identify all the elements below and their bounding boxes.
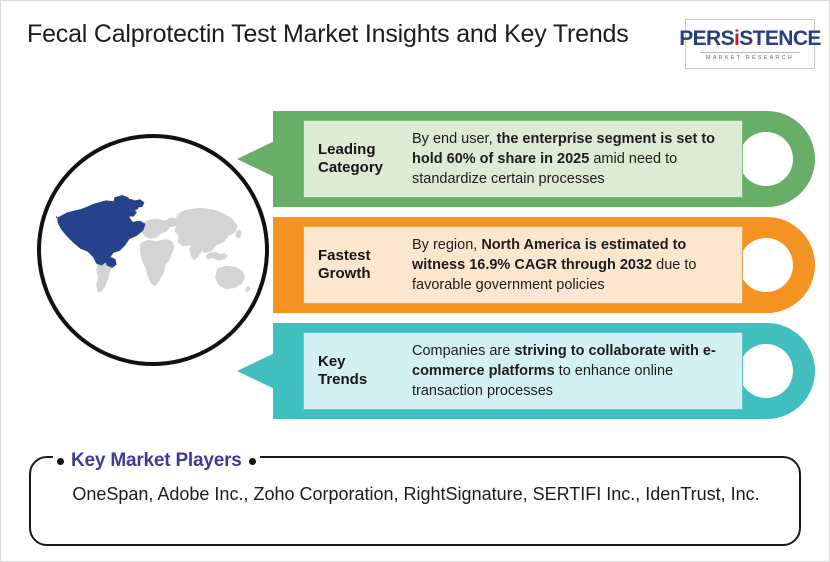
brand-logo-word-after-i: STENCE — [739, 27, 821, 50]
insight-banner-fastest-growth: Fastest Growth By region, North America … — [237, 217, 815, 313]
banner-description: By region, North America is estimated to… — [412, 235, 742, 295]
banner-desc-part-1: By region, — [412, 237, 481, 253]
page-title: Fecal Calprotectin Test Market Insights … — [27, 19, 647, 50]
brand-logo-word-before-i: PERS — [679, 27, 734, 50]
banner-desc-part-1: Companies are — [412, 343, 514, 359]
banner-label-line2: Trends — [318, 371, 367, 388]
key-market-players-list: OneSpan, Adobe Inc., Zoho Corporation, R… — [61, 481, 771, 508]
banner-label: Fastest Growth — [304, 247, 412, 283]
bullet-dot-right-icon — [249, 458, 256, 465]
insight-banner-key-trends: Key Trends Companies are striving to col… — [237, 323, 815, 419]
brand-logo: PERSiSTENCE MARKET RESEARCH — [685, 19, 815, 69]
banner-label-line2: Category — [318, 159, 383, 176]
banner-description: By end user, the enterprise segment is s… — [412, 129, 742, 189]
banner-end-hole — [739, 238, 793, 292]
banner-desc-part-1: By end user, — [412, 131, 497, 147]
brand-logo-wordmark: PERSiSTENCE — [679, 28, 821, 50]
banner-label-line2: Growth — [318, 265, 371, 282]
north-america-highlight — [56, 195, 146, 268]
bullet-dot-left-icon — [57, 458, 64, 465]
insight-banner-leading-category: Leading Category By end user, the enterp… — [237, 111, 815, 207]
key-market-players-title: Key Market Players — [64, 450, 249, 472]
banner-panel-green: Leading Category By end user, the enterp… — [303, 120, 743, 198]
world-map-icon — [46, 194, 260, 306]
brand-logo-subtitle: MARKET RESEARCH — [700, 52, 800, 61]
key-market-players-title-wrap: Key Market Players — [53, 448, 260, 474]
banner-label-line1: Fastest — [318, 247, 371, 264]
world-map-globe — [37, 134, 269, 366]
banner-label: Leading Category — [304, 141, 412, 177]
banner-end-hole — [739, 132, 793, 186]
banner-end-hole — [739, 344, 793, 398]
banner-panel-teal: Key Trends Companies are striving to col… — [303, 332, 743, 410]
banner-label-line1: Leading — [318, 141, 376, 158]
banner-label: Key Trends — [304, 353, 412, 389]
banner-description: Companies are striving to collaborate wi… — [412, 341, 742, 401]
infographic-canvas: Fecal Calprotectin Test Market Insights … — [0, 0, 830, 562]
banner-panel-orange: Fastest Growth By region, North America … — [303, 226, 743, 304]
banner-label-line1: Key — [318, 353, 346, 370]
